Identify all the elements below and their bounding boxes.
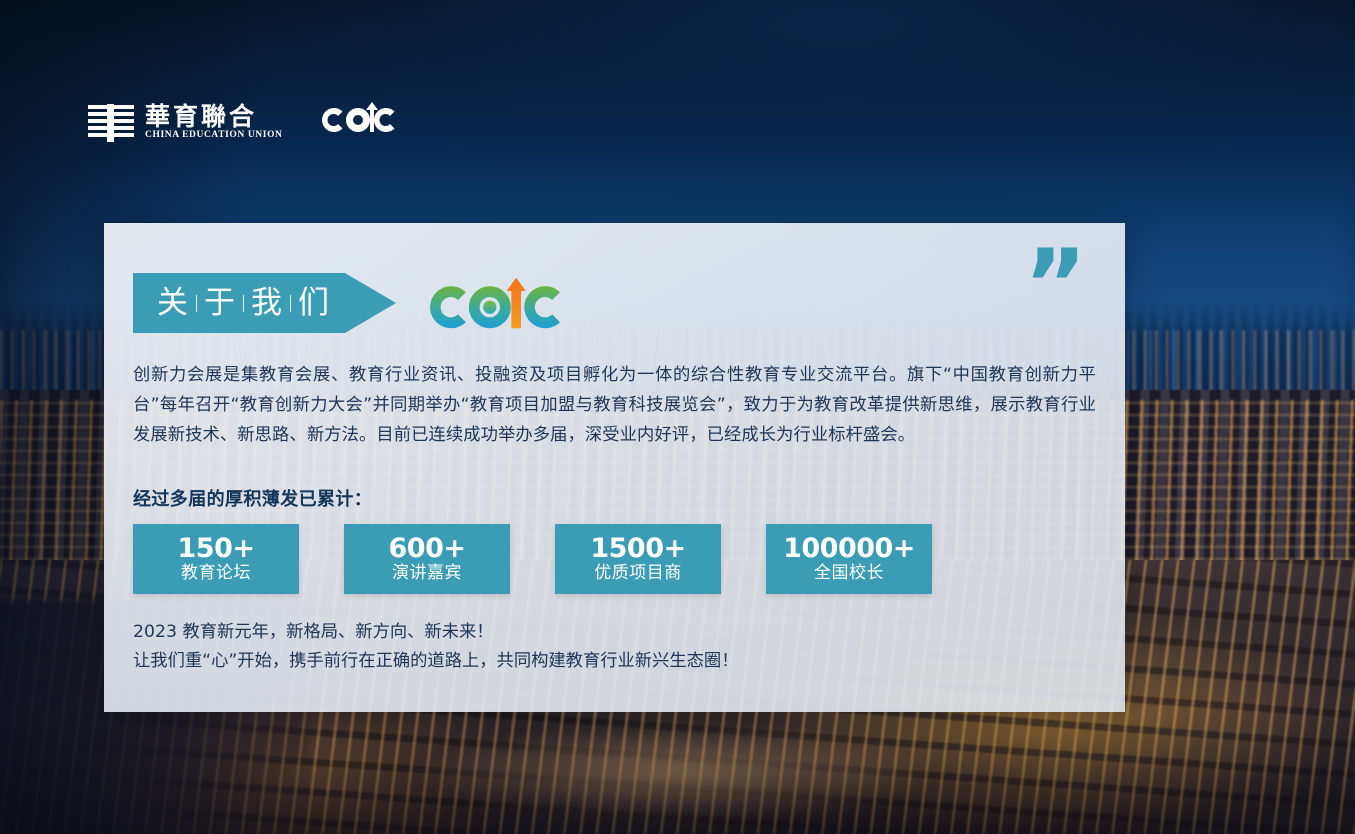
title-separator bbox=[243, 295, 244, 312]
section-title-chevron-banner: 关 于 我 们 bbox=[133, 273, 396, 333]
closing-line-1: 2023 教育新元年，新格局、新方向、新未来！ bbox=[133, 618, 1096, 647]
stat-number: 150+ bbox=[178, 535, 255, 563]
china-education-union-bars-icon bbox=[88, 104, 134, 142]
stats-row: 150+ 教育论坛 600+ 演讲嘉宾 1500+ 优质项目商 100000+ … bbox=[133, 524, 932, 594]
stat-card-speakers: 600+ 演讲嘉宾 bbox=[344, 524, 510, 594]
china-education-union-logo: 華育聯合 CHINA EDUCATION UNION bbox=[88, 104, 283, 142]
section-header: 关 于 我 们 bbox=[133, 273, 572, 333]
title-separator bbox=[290, 295, 291, 312]
stat-card-quality-projects: 1500+ 优质项目商 bbox=[555, 524, 721, 594]
closing-statement: 2023 教育新元年，新格局、新方向、新未来！ 让我们重“心”开始，携手前行在正… bbox=[133, 618, 1096, 676]
title-separator bbox=[196, 295, 197, 312]
ceic-color-logo-icon bbox=[422, 273, 572, 333]
stat-number: 1500+ bbox=[590, 535, 685, 563]
section-title-char-4: 们 bbox=[296, 288, 332, 319]
header-logo-group: 華育聯合 CHINA EDUCATION UNION bbox=[88, 100, 401, 145]
brand-wordmark: 華育聯合 CHINA EDUCATION UNION bbox=[145, 104, 283, 141]
stat-number: 100000+ bbox=[783, 535, 915, 563]
brand-name-cn: 華育聯合 bbox=[145, 104, 283, 129]
section-title-char-3: 我 bbox=[249, 288, 285, 319]
stat-card-principals: 100000+ 全国校长 bbox=[766, 524, 932, 594]
brand-name-en: CHINA EDUCATION UNION bbox=[145, 131, 283, 141]
ceic-logo-white-icon bbox=[313, 100, 401, 145]
stat-card-education-forums: 150+ 教育论坛 bbox=[133, 524, 299, 594]
quotation-mark-icon: ” bbox=[1024, 251, 1088, 320]
stat-label: 演讲嘉宾 bbox=[392, 564, 462, 583]
about-paragraph: 创新力会展是集教育会展、教育行业资讯、投融资及项目孵化为一体的综合性教育专业交流… bbox=[133, 360, 1096, 450]
stat-number: 600+ bbox=[389, 535, 466, 563]
section-title-char-1: 关 bbox=[155, 288, 191, 319]
stat-label: 优质项目商 bbox=[594, 564, 682, 583]
about-us-card: ” 关 于 我 们 bbox=[104, 223, 1125, 712]
stat-label: 教育论坛 bbox=[181, 564, 251, 583]
section-title: 关 于 我 们 bbox=[155, 288, 332, 319]
section-title-char-2: 于 bbox=[202, 288, 238, 319]
closing-line-2: 让我们重“心”开始，携手前行在正确的道路上，共同构建教育行业新兴生态圈！ bbox=[133, 647, 1096, 676]
stat-label: 全国校长 bbox=[814, 564, 884, 583]
stats-sub-heading: 经过多届的厚积薄发已累计： bbox=[133, 491, 372, 509]
